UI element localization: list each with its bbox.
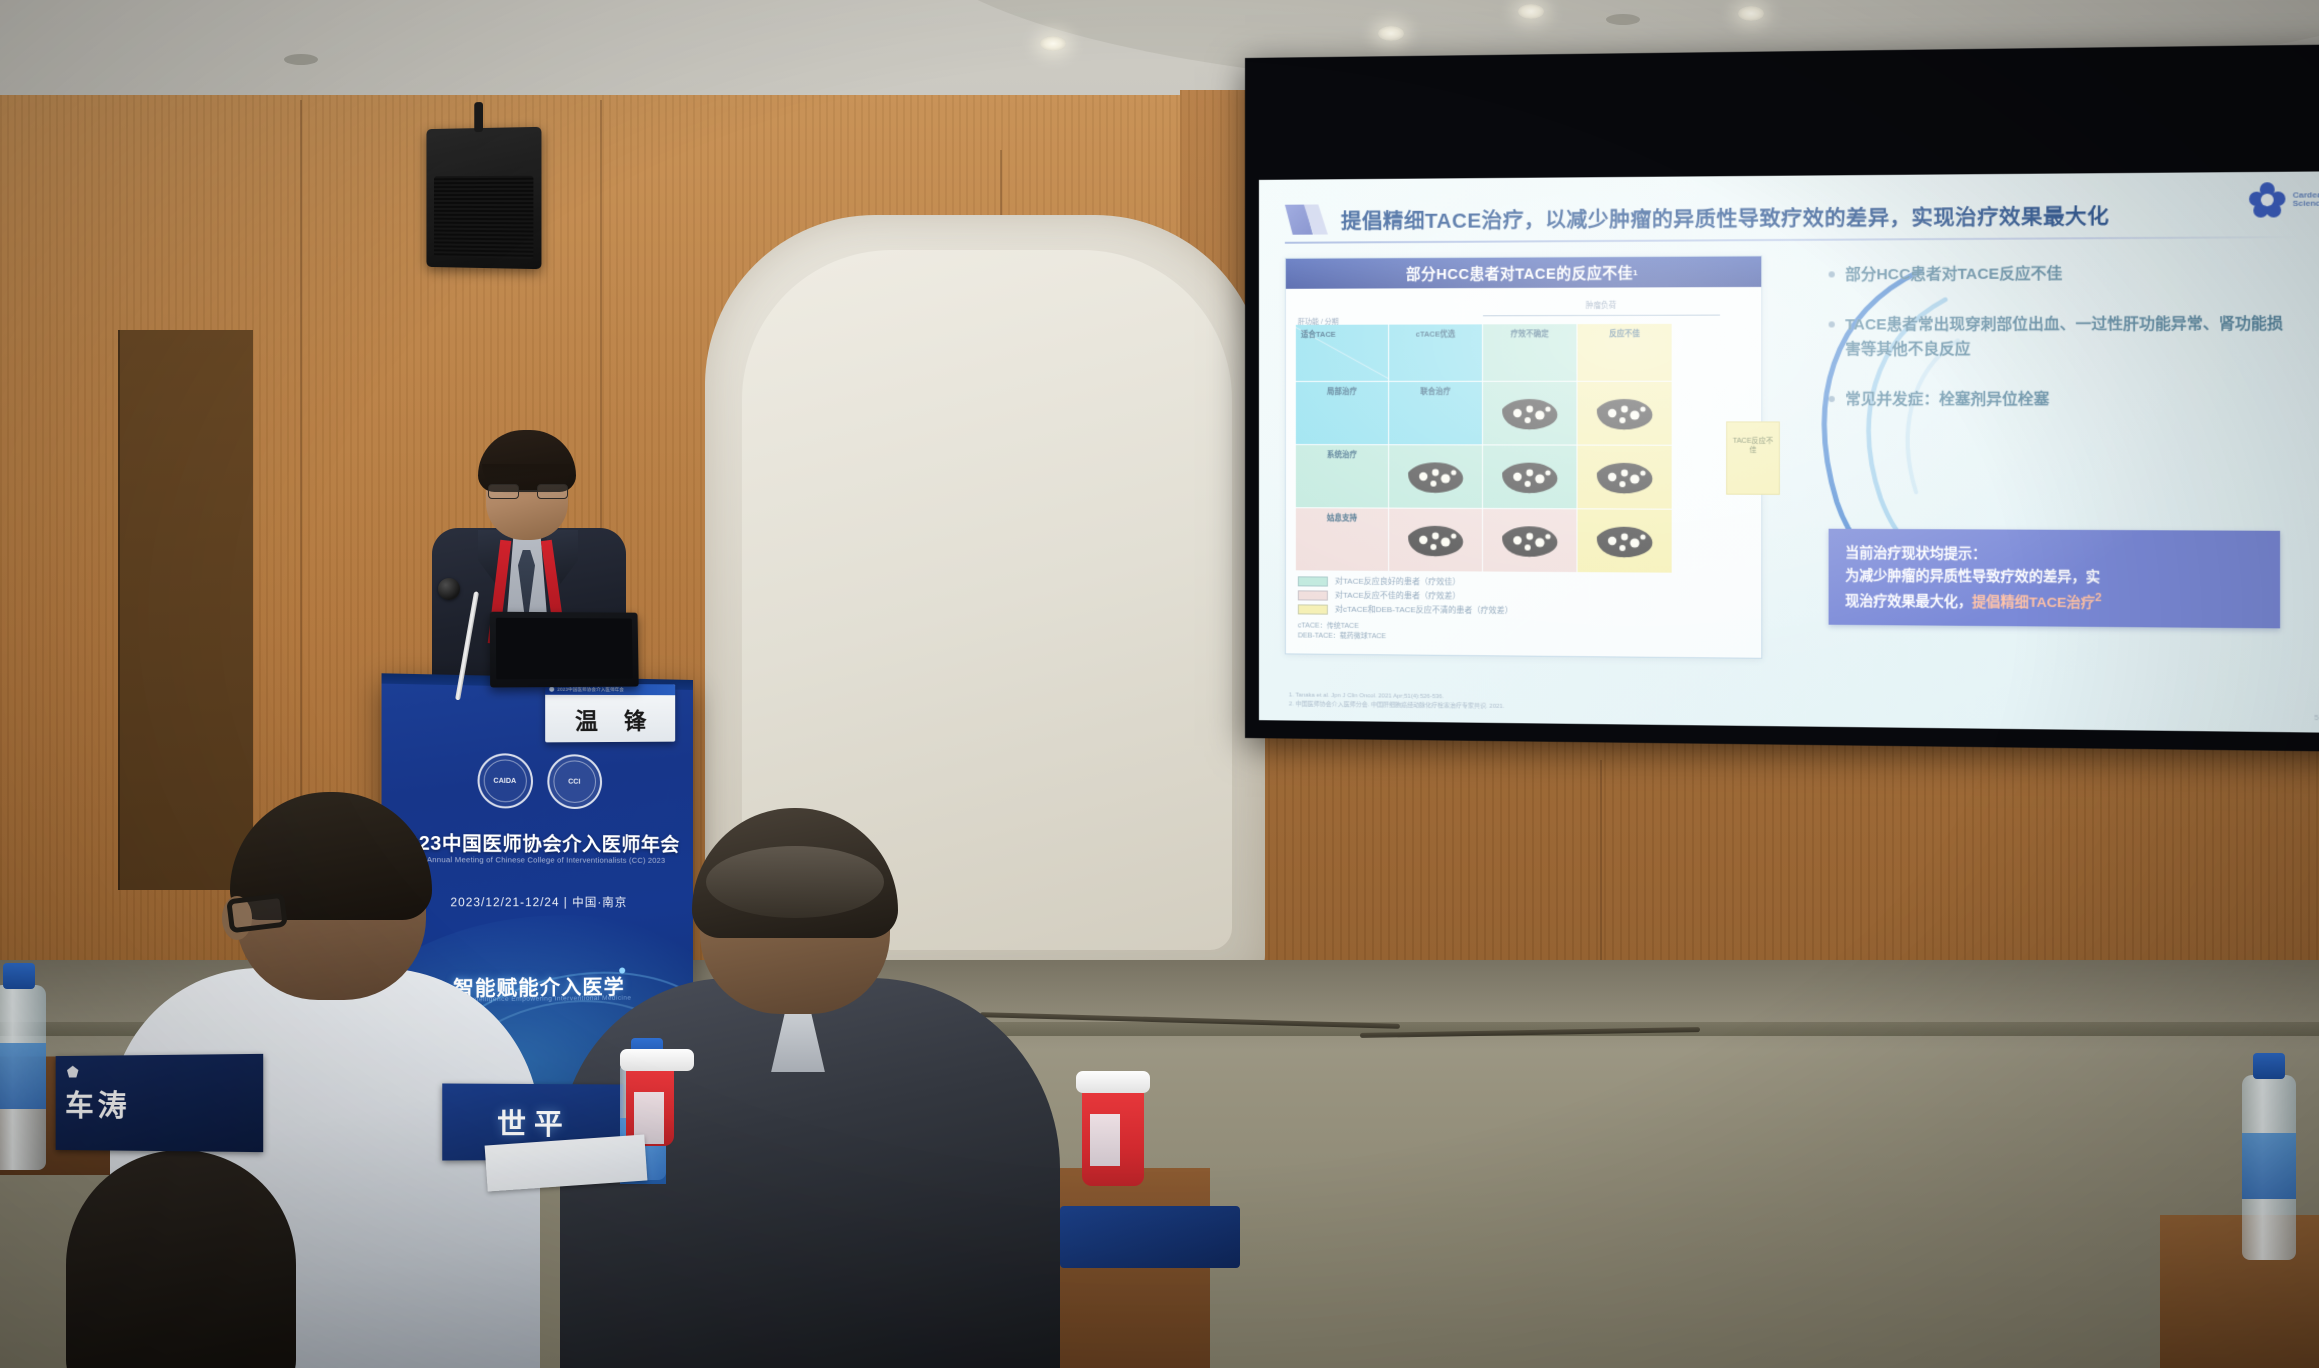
- slide-page-number: 5: [2315, 715, 2319, 722]
- matrix-axis-top-label: 肿瘤负荷: [1586, 301, 1617, 310]
- matrix-cell: 姑息支持: [1296, 508, 1388, 571]
- ceiling-downlight: [1518, 4, 1544, 19]
- wall-speaker-box: [426, 127, 541, 269]
- matrix-cell: [1578, 509, 1672, 572]
- legend-swatch: [1298, 604, 1328, 614]
- tablet-on-desk: [1060, 1206, 1240, 1268]
- liver-illustration-icon: [1499, 397, 1560, 431]
- matrix-cell: [1483, 509, 1576, 572]
- key-message-line-2: 为减少肿瘤的异质性导致疗效的差异，实: [1845, 564, 2263, 589]
- ceiling-downlight: [1738, 6, 1764, 21]
- key-message-emphasis: 提倡精细TACE治疗: [1972, 593, 2095, 609]
- emblem-cci: CCI: [547, 754, 602, 809]
- key-message-prefix: 现治疗效果最大化，: [1845, 592, 1972, 608]
- speaker-nameplate: 2023中国医师协会介入医师年会 温 锋: [545, 684, 675, 743]
- slide-bullet: 部分HCC患者对TACE反应不佳: [1829, 261, 2293, 287]
- name-placard-left: 车涛: [56, 1054, 264, 1152]
- slide-footnotes: 1. Tanaka et al. Jpn J Clin Oncol. 2021 …: [1289, 691, 1505, 713]
- bullet-dot-icon: [1829, 322, 1835, 328]
- slide-footnote: 2. 中国医师协会介入医师分会. 中国肝细胞癌经动脉化疗栓塞治疗专家共识. 20…: [1289, 701, 1505, 713]
- liver-illustration-icon: [1499, 524, 1560, 559]
- legend-label: 对TACE反应不佳的患者（疗效差）: [1335, 590, 1461, 602]
- legend-row: 对TACE反应不佳的患者（疗效差）: [1298, 589, 1745, 603]
- bullet-dot-icon: [1829, 396, 1835, 402]
- liver-illustration-icon: [1594, 525, 1655, 560]
- panel-header: 部分HCC患者对TACE的反应不佳1: [1286, 256, 1761, 288]
- nameplate-logo-icon: [549, 687, 554, 692]
- panel-header-text: 部分HCC患者对TACE的反应不佳: [1406, 262, 1633, 284]
- speaker-mount: [474, 102, 483, 132]
- brand-text: Cardea Science: [2293, 191, 2319, 209]
- slide-bullet-text: TACE患者常出现穿刺部位出血、一过性肝功能异常、肾功能损害等其他不良反应: [1845, 312, 2293, 361]
- slide-bullet-text: 部分HCC患者对TACE反应不佳: [1845, 262, 2062, 287]
- coffee-cup: [626, 1066, 674, 1146]
- legend-swatch: [1298, 576, 1328, 586]
- legend-row: 对TACE反应良好的患者（疗效佳）: [1298, 575, 1745, 589]
- matrix-axis-top: 肿瘤负荷: [1483, 299, 1720, 316]
- matrix-cell: [1389, 509, 1482, 572]
- slide-title-row: 提倡精细TACE治疗，以减少肿瘤的异质性导致疗效的差异，实现治疗效果最大化: [1285, 188, 2319, 244]
- matrix-legend: 对TACE反应良好的患者（疗效佳）对TACE反应不佳的患者（疗效差）对cTACE…: [1298, 575, 1745, 621]
- matrix-callout: TACE反应不佳: [1726, 421, 1780, 494]
- key-message-line-1: 当前治疗现状均提示：: [1845, 542, 2263, 567]
- key-message-box: 当前治疗现状均提示： 为减少肿瘤的异质性导致疗效的差异，实 现治疗效果最大化，提…: [1829, 529, 2281, 629]
- matrix-cell-label: 局部治疗: [1296, 387, 1388, 396]
- speaker-hair: [478, 430, 576, 492]
- ceiling-vent: [284, 54, 318, 65]
- liver-illustration-icon: [1594, 461, 1655, 496]
- matrix-grid: 适合TACEcTACE优选疗效不确定反应不佳局部治疗联合治疗 系统治疗 姑息支持: [1296, 324, 1720, 572]
- slide-title: 提倡精细TACE治疗，以减少肿瘤的异质性导致疗效的差异，实现治疗效果最大化: [1341, 199, 2109, 234]
- microphone-head-icon: [438, 578, 460, 600]
- speaker-grill: [434, 176, 533, 259]
- bottle-label: [2242, 1133, 2296, 1199]
- matrix-cell: 联合治疗: [1389, 382, 1482, 445]
- matrix-cell: 适合TACE: [1296, 325, 1388, 381]
- cup-lid: [1076, 1071, 1150, 1093]
- nameplate-name: 温 锋: [545, 695, 675, 743]
- matrix-cell: [1483, 445, 1576, 508]
- slide-bullet: TACE患者常出现穿刺部位出血、一过性肝功能异常、肾功能损害等其他不良反应: [1829, 312, 2293, 361]
- brand-logo: Cardea Science: [2249, 182, 2319, 218]
- matrix-cell-label: 姑息支持: [1296, 513, 1388, 523]
- matrix-cell: 疗效不确定: [1483, 324, 1576, 381]
- liver-illustration-icon: [1594, 397, 1655, 432]
- matrix-cell-label: 适合TACE: [1301, 330, 1384, 340]
- brand-line-2: Science: [2293, 199, 2319, 208]
- bottle-cap: [2253, 1053, 2285, 1079]
- nameplate-bar-text: 2023中国医师协会介入医师年会: [557, 686, 624, 692]
- matrix-cell-label: 系统治疗: [1296, 450, 1388, 460]
- matrix-cell: [1389, 445, 1482, 508]
- slide-bullet-list: 部分HCC患者对TACE反应不佳TACE患者常出现穿刺部位出血、一过性肝功能异常…: [1829, 261, 2293, 439]
- tumor-response-matrix: 肿瘤负荷 肝功能 / 分期 适合TACEcTACE优选疗效不确定反应不佳局部治疗…: [1296, 301, 1753, 574]
- podium-laptop: [490, 612, 639, 688]
- water-bottle: [2242, 1075, 2296, 1260]
- audience-center-hair-highlight: [706, 846, 884, 918]
- matrix-cell: [1483, 382, 1576, 445]
- panel-header-sup: 1: [1633, 268, 1638, 277]
- placard-logo-icon: [67, 1066, 78, 1078]
- matrix-cell: 系统治疗: [1296, 445, 1388, 507]
- legend-label: 对TACE反应良好的患者（疗效佳）: [1335, 576, 1461, 588]
- matrix-cell: 反应不佳: [1578, 324, 1672, 381]
- key-message-line-3: 现治疗效果最大化，提倡精细TACE治疗2: [1845, 587, 2263, 615]
- liver-illustration-icon: [1499, 461, 1560, 496]
- matrix-cell-label: 疗效不确定: [1483, 329, 1576, 339]
- ceiling-downlight: [1040, 36, 1066, 51]
- legend-swatch: [1298, 590, 1328, 600]
- matrix-cell: cTACE优选: [1389, 324, 1482, 381]
- flower-logo-icon: [2249, 182, 2285, 218]
- projection-screen: 提倡精细TACE治疗，以减少肿瘤的异质性导致疗效的差异，实现治疗效果最大化 Ca…: [1245, 44, 2319, 752]
- chevron-bullet-icon: [1285, 202, 1329, 236]
- legend-label: 对cTACE和DEB-TACE反应不清的患者（疗效差）: [1335, 604, 1513, 616]
- water-bottle: [0, 985, 46, 1170]
- audience-foreground-head: [66, 1150, 296, 1368]
- ceiling-downlight: [1378, 26, 1404, 41]
- cup-label: [1090, 1114, 1120, 1166]
- liver-illustration-icon: [1405, 461, 1466, 495]
- legend-row: 对cTACE和DEB-TACE反应不清的患者（疗效差）: [1298, 603, 1745, 618]
- matrix-cell-label: cTACE优选: [1389, 329, 1482, 339]
- coffee-cup: [1082, 1088, 1144, 1186]
- matrix-cell: [1578, 446, 1672, 509]
- name-placard-left-text: 车涛: [65, 1081, 130, 1125]
- presentation-slide: 提倡精细TACE治疗，以减少肿瘤的异质性导致疗效的差异，实现治疗效果最大化 Ca…: [1259, 171, 2319, 733]
- slide-bullet-text: 常见并发症：栓塞剂异位栓塞: [1845, 387, 2049, 411]
- cup-lid: [620, 1049, 694, 1071]
- matrix-cell: [1578, 382, 1672, 445]
- bullet-dot-icon: [1829, 271, 1835, 277]
- bottle-cap: [3, 963, 35, 989]
- matrix-cell: 局部治疗: [1296, 382, 1388, 444]
- audience-person-foreground: [0, 1150, 390, 1368]
- conference-photo-scene: 提倡精细TACE治疗，以减少肿瘤的异质性导致疗效的差异，实现治疗效果最大化 Ca…: [0, 0, 2319, 1368]
- matrix-cell-label: 反应不佳: [1578, 329, 1672, 339]
- ceiling-vent: [1606, 14, 1640, 25]
- liver-illustration-icon: [1405, 524, 1466, 559]
- audience-left-glasses: [226, 893, 288, 934]
- speaker-glasses: [488, 484, 568, 499]
- hcc-response-panel: 部分HCC患者对TACE的反应不佳1 肿瘤负荷 肝功能 / 分期 适合TACEc…: [1285, 255, 1762, 658]
- key-message-sup: 2: [2095, 592, 2102, 604]
- slide-bullet: 常见并发症：栓塞剂异位栓塞: [1829, 387, 2293, 411]
- panel-note: cTACE：传统TACE DEB-TACE：载药微球TACE: [1298, 621, 1386, 642]
- matrix-cell-label: 联合治疗: [1389, 387, 1482, 396]
- bottle-label: [0, 1043, 46, 1109]
- name-placard-center-text: 世平: [497, 1101, 571, 1143]
